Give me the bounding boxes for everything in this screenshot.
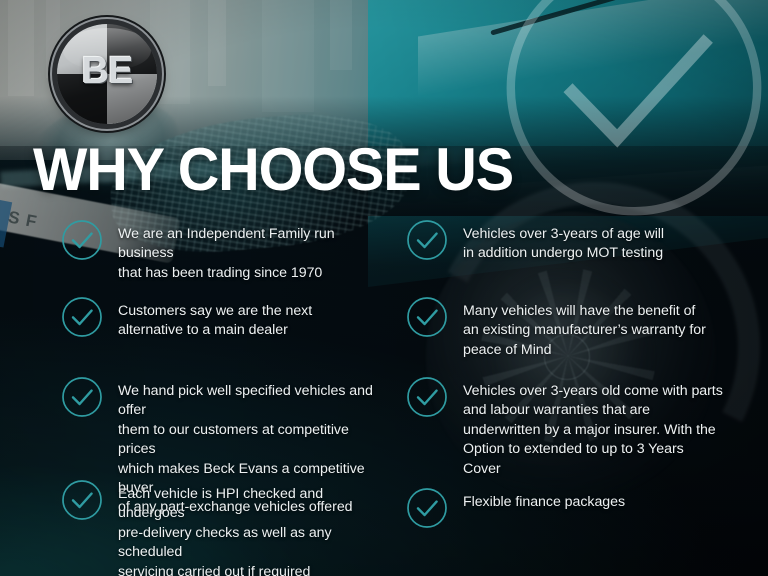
check-circle-icon (405, 295, 449, 339)
benefit-item-text: Flexible finance packages (463, 492, 625, 512)
benefit-item: Vehicles over 3-years old come with part… (405, 381, 725, 479)
brand-logo-badge[interactable]: BE (57, 24, 157, 124)
benefit-item-text: Many vehicles will have the benefit of a… (463, 301, 706, 360)
logo-initials: BE (57, 24, 157, 124)
page-title: WHY CHOOSE US (33, 140, 513, 200)
benefit-item-text: Vehicles over 3-years old come with part… (463, 381, 725, 479)
check-circle-icon (60, 218, 104, 262)
check-circle-icon (405, 486, 449, 530)
benefit-item-text: Customers say we are the next alternativ… (118, 301, 312, 341)
check-circle-icon (405, 218, 449, 262)
check-circle-icon (60, 478, 104, 522)
benefit-item: Flexible finance packages (405, 492, 625, 530)
benefit-item: We are an Independent Family run busines… (60, 224, 390, 283)
benefit-item-text: Each vehicle is HPI checked and undergoe… (118, 484, 390, 576)
benefit-item-text: We are an Independent Family run busines… (118, 224, 390, 283)
check-circle-icon (60, 375, 104, 419)
benefit-item: Vehicles over 3-years of age will in add… (405, 224, 664, 264)
benefit-item-text: Vehicles over 3-years of age will in add… (463, 224, 664, 264)
check-circle-icon (60, 295, 104, 339)
why-choose-us-banner: S F BE WHY CHOOSE US We are an Independe… (0, 0, 768, 576)
check-circle-icon (405, 375, 449, 419)
benefit-item: Customers say we are the next alternativ… (60, 301, 312, 341)
benefit-item: Each vehicle is HPI checked and undergoe… (60, 484, 390, 576)
benefit-item: Many vehicles will have the benefit of a… (405, 301, 706, 360)
